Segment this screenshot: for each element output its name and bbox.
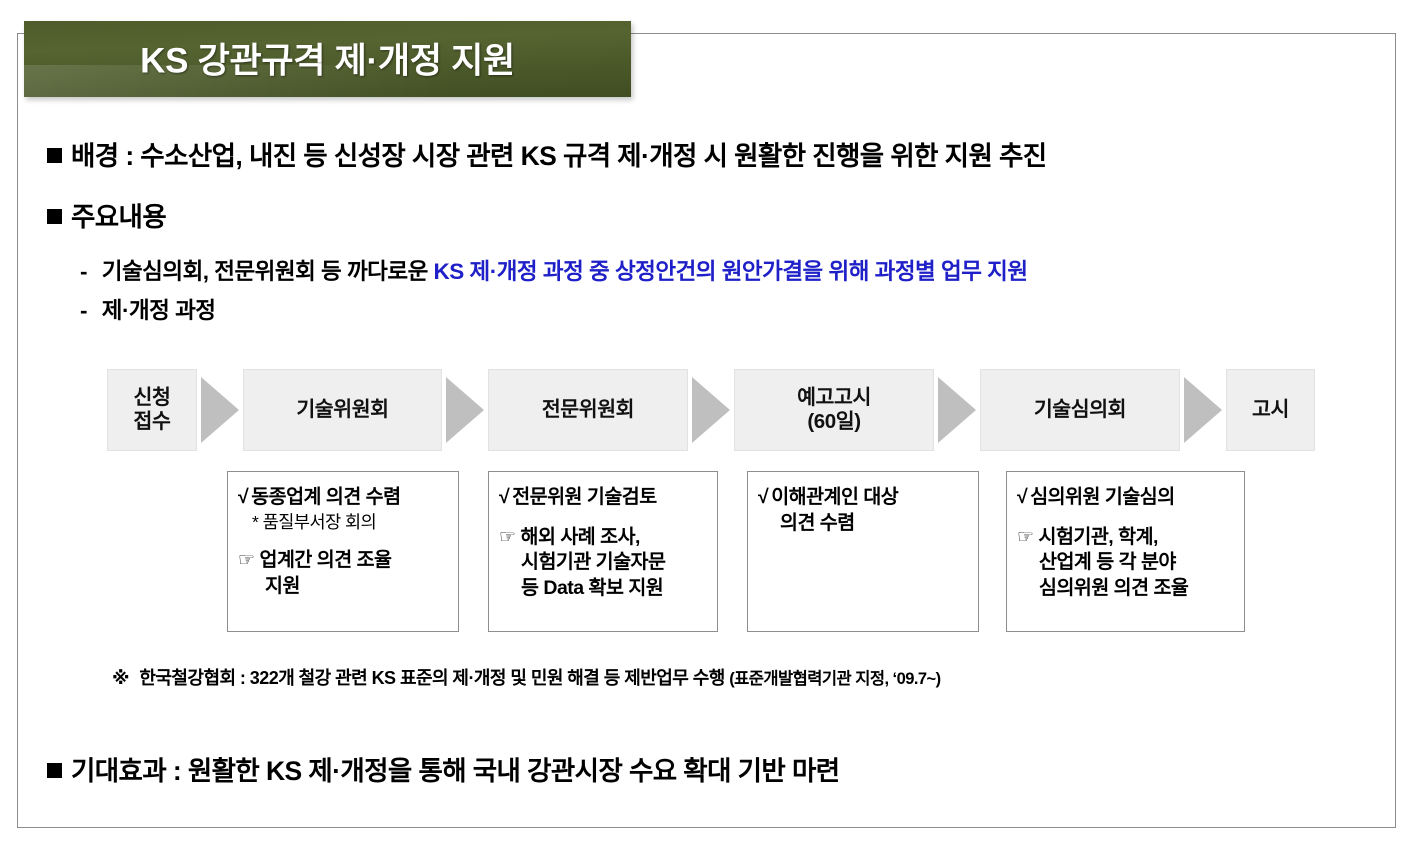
flow-step-notification-label: 고시 <box>1252 398 1289 422</box>
main-content-heading-label: 주요내용 <box>71 202 166 232</box>
detail-box-expert-committee: √전문위원 기술검토 ☞해외 사례 조사, 시험기관 기술자문 등 Data 확… <box>488 471 718 632</box>
flow-step-notification[interactable]: 고시 <box>1226 369 1315 451</box>
flow-step-deliberation-committee[interactable]: 기술심의회 <box>980 369 1180 451</box>
detail-2-hand-cont2: 등 Data 확보 지원 <box>499 576 709 602</box>
main-item-1-dash: - <box>80 259 87 284</box>
main-item-2: - 제·개정 과정 <box>80 293 216 325</box>
detail-2-check-text: 전문위원 기술검토 <box>512 486 656 508</box>
main-item-1-highlight: KS 제·개정 과정 중 상정안건의 원안가결을 위해 과정별 업무 지원 <box>434 259 1028 284</box>
pointing-hand-icon: ☞ <box>499 525 516 550</box>
main-item-1-plain: 기술심의회, 전문위원회 등 까다로운 <box>102 259 434 284</box>
detail-3-check-line: √이해관계인 대상 <box>758 485 970 511</box>
detail-1-sub-line: * 품질부서장 회의 <box>238 511 450 534</box>
flow-arrow-icon <box>692 377 730 443</box>
detail-box-public-notice: √이해관계인 대상 의견 수렴 <box>747 471 979 632</box>
detail-4-check-line: √심의위원 기술심의 <box>1017 485 1236 511</box>
flow-step-application-line1: 신청 <box>134 386 171 410</box>
detail-box-technical-committee: √동종업계 의견 수렴 * 품질부서장 회의 ☞업계간 의견 조율 지원 <box>227 471 459 632</box>
detail-4-hand-text: 시험기관, 학계, <box>1039 526 1158 548</box>
slide-canvas: KS 강관규격 제·개정 지원 배경 : 수소산업, 내진 등 신성장 시장 관… <box>0 0 1409 861</box>
bullet-square-icon <box>47 763 62 778</box>
slide-title-banner: KS 강관규격 제·개정 지원 <box>24 21 631 97</box>
bullet-square-icon <box>47 209 62 224</box>
check-icon: √ <box>758 485 768 511</box>
detail-4-hand-line: ☞시험기관, 학계, <box>1017 525 1236 551</box>
expected-effect-bullet: 기대효과 : 원활한 KS 제·개정을 통해 국내 강관시장 수요 확대 기반 … <box>47 749 840 788</box>
check-icon: √ <box>238 485 248 511</box>
background-text: 배경 : 수소산업, 내진 등 신성장 시장 관련 KS 규격 제·개정 시 원… <box>71 141 1047 171</box>
pointing-hand-icon: ☞ <box>238 548 255 573</box>
background-bullet: 배경 : 수소산업, 내진 등 신성장 시장 관련 KS 규격 제·개정 시 원… <box>47 134 1047 173</box>
main-item-1: - 기술심의회, 전문위원회 등 까다로운 KS 제·개정 과정 중 상정안건의… <box>80 254 1028 286</box>
detail-1-hand-cont1: 지원 <box>238 574 450 600</box>
detail-box-deliberation-committee: √심의위원 기술심의 ☞시험기관, 학계, 산업계 등 각 분야 심의위원 의견… <box>1006 471 1245 632</box>
check-icon: √ <box>1017 485 1027 511</box>
slide-title: KS 강관규격 제·개정 지원 <box>24 32 631 83</box>
flow-step-public-notice-line2: (60일) <box>797 410 871 434</box>
detail-1-hand-text: 업계간 의견 조율 <box>260 549 392 571</box>
detail-4-hand-cont2: 심의위원 의견 조율 <box>1017 576 1236 602</box>
detail-2-hand-cont1: 시험기관 기술자문 <box>499 550 709 576</box>
flow-step-public-notice-line1: 예고고시 <box>797 386 871 410</box>
detail-3-check-cont: 의견 수렴 <box>758 511 970 537</box>
check-icon: √ <box>499 485 509 511</box>
flow-arrow-icon <box>1184 377 1222 443</box>
footnote-tail: (표준개발협력기관 지정, ‘09.7~) <box>729 670 940 688</box>
main-item-2-plain: 제·개정 과정 <box>102 298 216 323</box>
pointing-hand-icon: ☞ <box>1017 525 1034 550</box>
flow-step-public-notice[interactable]: 예고고시 (60일) <box>734 369 934 451</box>
detail-1-check-line: √동종업계 의견 수렴 <box>238 485 450 511</box>
flow-step-technical-committee[interactable]: 기술위원회 <box>243 369 442 451</box>
detail-4-check-text: 심의위원 기술심의 <box>1030 486 1174 508</box>
expected-effect-text: 기대효과 : 원활한 KS 제·개정을 통해 국내 강관시장 수요 확대 기반 … <box>71 756 840 786</box>
footnote: ※ 한국철강협회 : 322개 철강 관련 KS 표준의 제·개정 및 민원 해… <box>112 664 941 690</box>
detail-1-check-text: 동종업계 의견 수렴 <box>251 486 400 508</box>
main-item-2-dash: - <box>80 298 87 323</box>
flow-step-expert-committee-label: 전문위원회 <box>542 398 634 422</box>
flow-arrow-icon <box>446 377 484 443</box>
detail-2-check-line: √전문위원 기술검토 <box>499 485 709 511</box>
detail-4-hand-cont1: 산업계 등 각 분야 <box>1017 550 1236 576</box>
main-content-heading: 주요내용 <box>47 195 166 234</box>
detail-2-hand-line: ☞해외 사례 조사, <box>499 525 709 551</box>
flow-arrow-icon <box>201 377 239 443</box>
flow-step-technical-committee-label: 기술위원회 <box>296 398 388 422</box>
footnote-main: 한국철강협회 : 322개 철강 관련 KS 표준의 제·개정 및 민원 해결 … <box>139 668 724 688</box>
flow-step-deliberation-committee-label: 기술심의회 <box>1034 398 1126 422</box>
detail-boxes: √동종업계 의견 수렴 * 품질부서장 회의 ☞업계간 의견 조율 지원 √전문… <box>227 471 1245 632</box>
process-flow: 신청 접수 기술위원회 전문위원회 예고고시 (60일) 기술심의회 <box>107 369 1315 451</box>
detail-2-hand-text: 해외 사례 조사, <box>521 526 640 548</box>
flow-step-application-line2: 접수 <box>134 410 171 434</box>
detail-1-hand-line: ☞업계간 의견 조율 <box>238 548 450 574</box>
bullet-square-icon <box>47 148 62 163</box>
flow-step-application[interactable]: 신청 접수 <box>107 369 197 451</box>
footnote-mark-icon: ※ <box>112 668 129 688</box>
detail-3-check-text: 이해관계인 대상 <box>771 486 898 508</box>
flow-step-expert-committee[interactable]: 전문위원회 <box>488 369 688 451</box>
flow-arrow-icon <box>938 377 976 443</box>
